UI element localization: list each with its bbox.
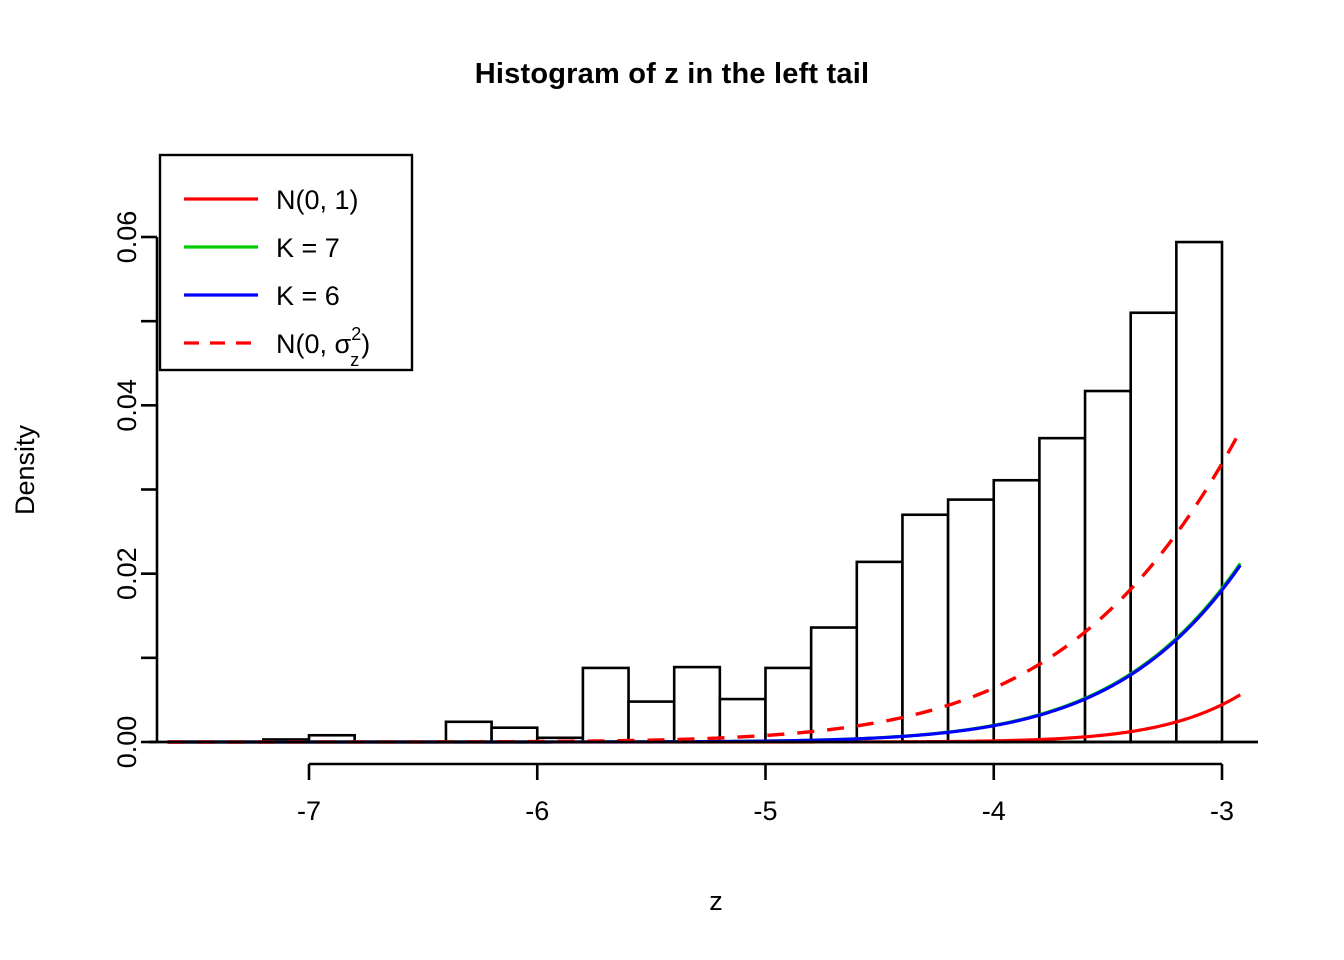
histogram-bar [1039, 438, 1085, 742]
y-axis-label: Density [10, 424, 40, 515]
x-tick-label: -6 [525, 796, 549, 826]
histogram-bar [583, 668, 629, 742]
histogram-bar [811, 628, 857, 742]
histogram-bar [629, 702, 675, 742]
legend[interactable]: N(0, 1)K = 7K = 6N(0, σ2z) [160, 155, 412, 370]
x-tick-label: -4 [982, 796, 1006, 826]
legend-label: K = 7 [276, 233, 340, 263]
histogram-bar [674, 667, 720, 742]
y-tick-label: 0.02 [112, 547, 142, 600]
x-tick-label: -5 [753, 796, 777, 826]
legend-label-subscript: z [350, 350, 359, 370]
histogram-bar [948, 500, 994, 742]
chart-root: Histogram of z in the left tail 0.000.02… [0, 0, 1344, 960]
histogram-bar [1131, 313, 1177, 742]
histogram-bar [1176, 242, 1222, 742]
y-tick-label: 0.04 [112, 379, 142, 432]
x-tick-label: -7 [297, 796, 321, 826]
y-tick-label: 0.06 [112, 211, 142, 264]
legend-label: K = 6 [276, 281, 340, 311]
legend-label-superscript: 2 [351, 324, 361, 344]
y-tick-label: 0.00 [112, 716, 142, 769]
histogram-bar [994, 480, 1040, 742]
x-tick-label: -3 [1210, 796, 1234, 826]
chart-svg: 0.000.020.040.06-7-6-5-4-3 N(0, 1)K = 7K… [0, 0, 1344, 960]
legend-label-tail: ) [361, 329, 370, 359]
legend-label: N(0, 1) [276, 185, 359, 215]
histogram-bar [446, 722, 492, 742]
x-axis-label: z [709, 886, 723, 916]
histogram-bar [902, 515, 948, 742]
histogram-bar [857, 562, 903, 742]
